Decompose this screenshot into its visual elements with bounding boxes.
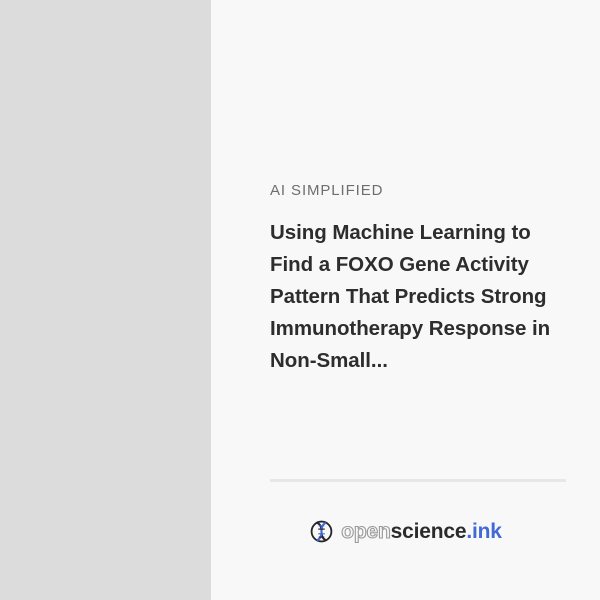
wordmark-science: science <box>391 520 467 543</box>
article-card: AI SIMPLIFIED Using Machine Learning to … <box>0 0 600 600</box>
article-category-label: AI SIMPLIFIED <box>270 182 560 200</box>
wordmark-open: open <box>341 520 390 543</box>
card-footer: openscience.ink <box>211 518 600 545</box>
article-text-block: AI SIMPLIFIED Using Machine Learning to … <box>270 182 560 377</box>
article-content: AI SIMPLIFIED Using Machine Learning to … <box>211 0 600 600</box>
brand-logo[interactable]: openscience.ink <box>309 518 501 545</box>
article-headline: Using Machine Learning to Find a FOXO Ge… <box>270 217 560 377</box>
wordmark-ink: .ink <box>466 520 501 543</box>
dna-helix-icon <box>309 518 334 545</box>
footer-divider <box>270 479 566 482</box>
article-image-placeholder <box>0 0 211 600</box>
brand-wordmark: openscience.ink <box>341 518 501 545</box>
